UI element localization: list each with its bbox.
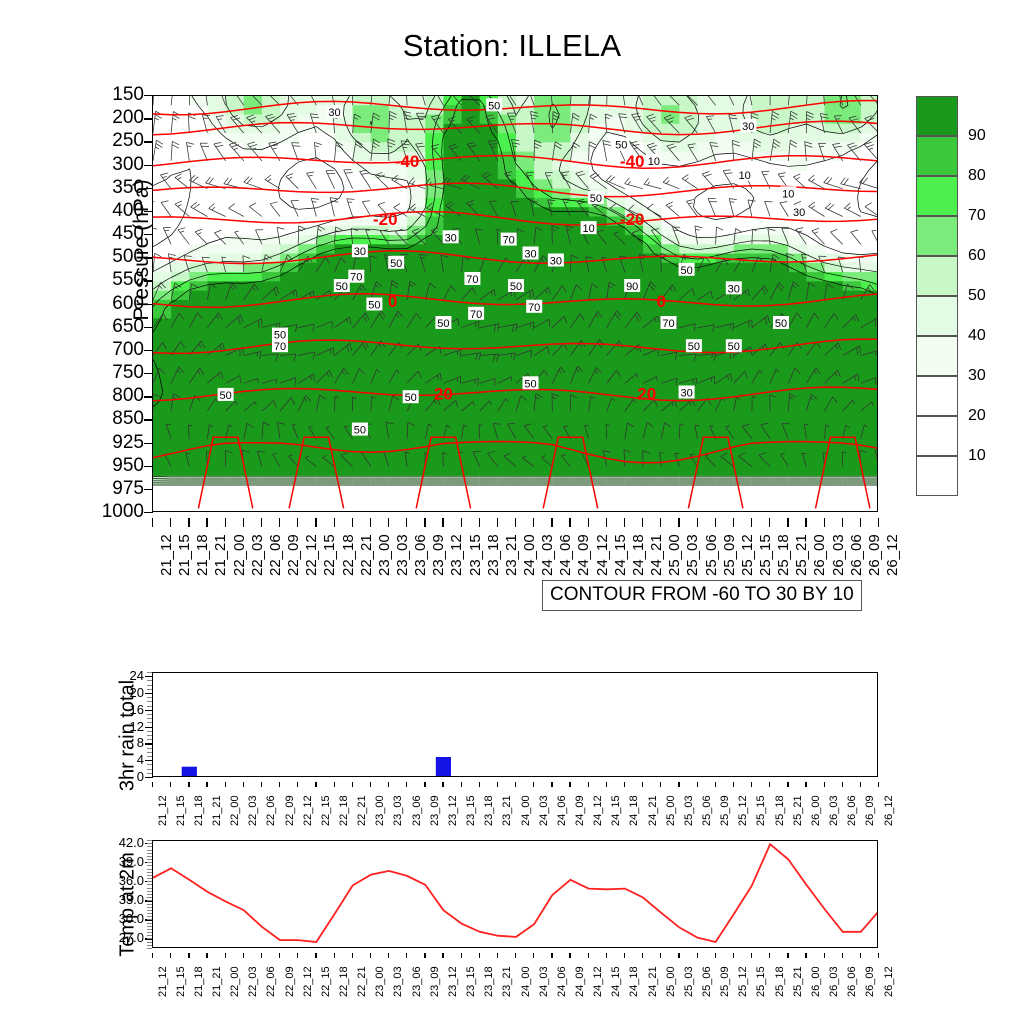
temp-time-tick-mark <box>243 953 244 958</box>
temp-time-tick-mark <box>225 953 226 958</box>
rain-time-tick-label: 26_03 <box>828 795 840 826</box>
rain-time-tick-label: 24_03 <box>538 795 550 826</box>
colorbar-tick-label: 80 <box>968 168 986 184</box>
time-tick-label: 23_03 <box>394 534 411 576</box>
svg-text:50: 50 <box>368 300 380 312</box>
time-tick-label: 24_15 <box>612 534 629 576</box>
time-tick-mark <box>769 518 770 527</box>
rain-time-tick-label: 23_21 <box>501 795 513 826</box>
temp-time-tick-label: 25_18 <box>774 966 786 997</box>
time-tick-label: 23_12 <box>448 534 465 576</box>
temp-time-tick-label: 25_06 <box>701 966 713 997</box>
svg-text:30: 30 <box>728 283 740 295</box>
pressure-tick-label: 975 <box>60 479 144 498</box>
colorbar-tick-label: 20 <box>968 408 986 424</box>
rain-time-tick-mark <box>660 782 661 787</box>
temp-time-tick-label: 24_12 <box>592 966 604 997</box>
time-tick-mark <box>678 518 679 527</box>
rain-time-tick-mark <box>769 782 770 787</box>
time-tick-mark <box>225 518 226 527</box>
rain-tick-label: 4 <box>100 753 144 766</box>
time-tick-label: 25_00 <box>666 534 683 576</box>
rain-time-tick-mark <box>678 782 679 787</box>
temp-time-tick-mark <box>206 953 207 958</box>
temp-time-tick-mark <box>442 953 443 958</box>
time-tick-label: 26_12 <box>884 534 901 576</box>
sounding-cross-section-panel: -40-40-20-200020203050507050705030707050… <box>152 95 878 512</box>
time-tick-mark <box>697 518 698 527</box>
temp-time-tick-mark <box>152 953 153 958</box>
temp-minor-tick <box>147 948 152 949</box>
temp-time-tick-mark <box>588 953 589 958</box>
time-tick-label: 24_09 <box>575 534 592 576</box>
svg-text:70: 70 <box>466 274 478 286</box>
rain-time-tick-mark <box>297 782 298 787</box>
sounding-plot-frame: -40-40-20-200020203050507050705030707050… <box>152 95 878 512</box>
rain-tick-label: 12 <box>100 720 144 733</box>
time-tick-label: 21_18 <box>194 534 211 576</box>
time-tick-label: 24_18 <box>630 534 647 576</box>
colorbar-swatch <box>916 136 958 176</box>
temp-tick-label: 33.0 <box>86 893 144 906</box>
pressure-tick-label: 150 <box>60 85 144 104</box>
pressure-tick-label: 1000 <box>60 502 144 521</box>
pressure-tick-label: 550 <box>60 270 144 289</box>
rain-time-tick-mark <box>751 782 752 787</box>
rain-time-tick-label: 21_18 <box>193 795 205 826</box>
temp-time-tick-label: 25_03 <box>683 966 695 997</box>
temp-time-tick-label: 25_15 <box>755 966 767 997</box>
rain-time-tick-label: 25_18 <box>774 795 786 826</box>
temp-time-tick-mark <box>606 953 607 958</box>
temp-time-tick-mark <box>715 953 716 958</box>
colorbar-swatch <box>916 456 958 496</box>
time-tick-mark <box>878 518 879 527</box>
contour-legend-box: CONTOUR FROM -60 TO 30 BY 10 <box>542 580 862 611</box>
rain-time-tick-label: 21_21 <box>211 795 223 826</box>
svg-text:70: 70 <box>470 309 482 321</box>
temp-time-tick-label: 23_06 <box>411 966 423 997</box>
pressure-tick-label: 300 <box>60 155 144 174</box>
temp-time-tick-mark <box>297 953 298 958</box>
time-tick-label: 25_18 <box>775 534 792 576</box>
time-tick-label: 24_06 <box>557 534 574 576</box>
temp-tick-label: 36.0 <box>86 874 144 887</box>
svg-text:90: 90 <box>626 281 638 293</box>
rain-time-tick-mark <box>479 782 480 787</box>
temp-line <box>153 841 878 948</box>
colorbar-swatch <box>916 176 958 216</box>
temp-time-tick-label: 21_21 <box>211 966 223 997</box>
rain-time-tick-mark <box>206 782 207 787</box>
svg-text:30: 30 <box>328 107 340 119</box>
time-tick-label: 24_21 <box>648 534 665 576</box>
rain-time-tick-mark <box>334 782 335 787</box>
svg-text:30: 30 <box>742 121 754 133</box>
pressure-tick-label: 750 <box>60 363 144 382</box>
time-tick-label: 22_15 <box>321 534 338 576</box>
colorbar-swatch <box>916 256 958 296</box>
temp-time-tick-mark <box>842 953 843 958</box>
temp-plot-frame <box>152 840 878 948</box>
time-tick-label: 25_03 <box>684 534 701 576</box>
temp-time-tick-mark <box>188 953 189 958</box>
rain-time-tick-label: 25_12 <box>737 795 749 826</box>
time-tick-mark <box>315 518 316 527</box>
time-tick-label: 22_00 <box>231 534 248 576</box>
temp-panel <box>152 840 878 948</box>
temp-time-tick-mark <box>261 953 262 958</box>
temp-time-tick-label: 24_00 <box>520 966 532 997</box>
svg-text:0: 0 <box>656 292 665 311</box>
temp-time-tick-label: 25_09 <box>719 966 731 997</box>
temp-time-tick-label: 26_12 <box>883 966 895 997</box>
time-tick-mark <box>642 518 643 527</box>
time-tick-mark <box>787 518 788 527</box>
rain-bar <box>254 776 269 777</box>
temp-time-tick-label: 25_21 <box>792 966 804 997</box>
temp-time-tick-label: 21_12 <box>157 966 169 997</box>
pressure-tick-label: 800 <box>60 386 144 405</box>
rain-time-axis: 21_1221_1521_1821_2122_0022_0322_0622_09… <box>152 782 878 828</box>
rain-time-tick-mark <box>733 782 734 787</box>
time-tick-label: 24_00 <box>521 534 538 576</box>
temp-time-tick-label: 24_03 <box>538 966 550 997</box>
temp-time-tick-mark <box>769 953 770 958</box>
temp-time-tick-mark <box>624 953 625 958</box>
rain-time-tick-label: 22_00 <box>229 795 241 826</box>
svg-text:70: 70 <box>503 235 515 247</box>
temp-time-tick-mark <box>279 953 280 958</box>
time-tick-mark <box>370 518 371 527</box>
pressure-tick-label: 250 <box>60 131 144 150</box>
time-tick-label: 23_21 <box>503 534 520 576</box>
rain-time-tick-mark <box>225 782 226 787</box>
colorbar-swatch <box>916 96 958 136</box>
temp-time-tick-mark <box>733 953 734 958</box>
colorbar-swatch <box>916 336 958 376</box>
rain-time-tick-label: 24_15 <box>610 795 622 826</box>
temp-time-tick-mark <box>824 953 825 958</box>
svg-text:70: 70 <box>350 272 362 284</box>
time-tick-mark <box>424 518 425 527</box>
time-tick-label: 21_15 <box>176 534 193 576</box>
colorbar-tick-label: 90 <box>968 128 986 144</box>
rain-bar <box>182 767 197 777</box>
temp-time-tick-mark <box>406 953 407 958</box>
rain-time-tick-mark <box>697 782 698 787</box>
pressure-tick-label: 700 <box>60 340 144 359</box>
pressure-tick-label: 950 <box>60 456 144 475</box>
rain-time-tick-mark <box>497 782 498 787</box>
time-tick-mark <box>805 518 806 527</box>
time-tick-label: 25_15 <box>757 534 774 576</box>
temp-time-tick-mark <box>678 953 679 958</box>
temp-time-tick-label: 26_06 <box>846 966 858 997</box>
svg-text:50: 50 <box>688 341 700 353</box>
svg-text:50: 50 <box>615 140 627 152</box>
pressure-tick-label: 500 <box>60 247 144 266</box>
rain-time-tick-mark <box>370 782 371 787</box>
time-tick-label: 26_09 <box>866 534 883 576</box>
rain-tick-mark <box>145 777 153 778</box>
svg-text:30: 30 <box>354 246 366 258</box>
time-tick-mark <box>497 518 498 527</box>
temp-time-tick-label: 22_18 <box>338 966 350 997</box>
rain-time-tick-label: 25_15 <box>755 795 767 826</box>
rain-tick-label: 24 <box>100 669 144 682</box>
temp-time-tick-mark <box>479 953 480 958</box>
colorbar-swatch <box>916 376 958 416</box>
rain-time-tick-mark <box>315 782 316 787</box>
temp-time-tick-label: 23_15 <box>465 966 477 997</box>
temp-time-tick-label: 25_00 <box>665 966 677 997</box>
rain-time-tick-mark <box>642 782 643 787</box>
rain-tick-label: 16 <box>100 703 144 716</box>
pressure-tick-label: 600 <box>60 294 144 313</box>
temp-time-tick-label: 26_03 <box>828 966 840 997</box>
rain-time-tick-mark <box>787 782 788 787</box>
colorbar-tick-label: 40 <box>968 328 986 344</box>
temp-time-tick-label: 22_09 <box>284 966 296 997</box>
time-tick-mark <box>715 518 716 527</box>
svg-text:70: 70 <box>528 302 540 314</box>
relative-humidity-colorbar: 102030405060708090 <box>916 96 958 496</box>
rain-time-tick-mark <box>515 782 516 787</box>
pressure-tick-label: 850 <box>60 409 144 428</box>
rain-time-tick-label: 22_03 <box>247 795 259 826</box>
pressure-tick-mark <box>144 512 153 513</box>
rain-time-tick-label: 21_15 <box>175 795 187 826</box>
temp-time-tick-label: 24_06 <box>556 966 568 997</box>
time-tick-mark <box>751 518 752 527</box>
svg-text:50: 50 <box>775 318 787 330</box>
time-tick-mark <box>842 518 843 527</box>
time-tick-mark <box>461 518 462 527</box>
rain-bar <box>436 757 451 777</box>
temp-time-tick-mark <box>315 953 316 958</box>
time-tick-mark <box>352 518 353 527</box>
temp-time-tick-mark <box>697 953 698 958</box>
colorbar-swatch <box>916 416 958 456</box>
rain-time-tick-label: 23_09 <box>429 795 441 826</box>
temp-time-tick-label: 24_18 <box>628 966 640 997</box>
svg-text:-20: -20 <box>620 210 645 229</box>
colorbar-swatch <box>916 296 958 336</box>
temp-time-tick-label: 23_21 <box>501 966 513 997</box>
temp-time-tick-mark <box>860 953 861 958</box>
rain-time-tick-mark <box>588 782 589 787</box>
svg-text:50: 50 <box>405 392 417 404</box>
rain-time-tick-label: 25_06 <box>701 795 713 826</box>
time-tick-mark <box>733 518 734 527</box>
time-tick-mark <box>660 518 661 527</box>
temp-time-tick-mark <box>334 953 335 958</box>
temp-time-tick-mark <box>170 953 171 958</box>
svg-text:50: 50 <box>488 100 500 112</box>
svg-text:50: 50 <box>680 265 692 277</box>
rain-time-tick-mark <box>461 782 462 787</box>
rain-time-tick-mark <box>569 782 570 787</box>
temp-time-tick-mark <box>370 953 371 958</box>
pressure-tick-label: 400 <box>60 201 144 220</box>
rain-time-tick-mark <box>624 782 625 787</box>
temp-time-tick-label: 22_12 <box>302 966 314 997</box>
temp-tick-label: 30.0 <box>86 912 144 925</box>
temp-time-tick-mark <box>878 953 879 958</box>
time-tick-mark <box>406 518 407 527</box>
svg-text:10: 10 <box>582 223 594 235</box>
time-tick-label: 21_21 <box>212 534 229 576</box>
temp-time-axis: 21_1221_1521_1821_2122_0022_0322_0622_09… <box>152 953 878 999</box>
svg-text:50: 50 <box>728 341 740 353</box>
rain-tick-label: 8 <box>100 736 144 749</box>
temp-time-tick-label: 23_09 <box>429 966 441 997</box>
temp-time-tick-mark <box>533 953 534 958</box>
temp-time-tick-label: 22_03 <box>247 966 259 997</box>
temp-time-tick-mark <box>551 953 552 958</box>
svg-text:10: 10 <box>739 170 751 182</box>
temp-time-tick-label: 23_00 <box>374 966 386 997</box>
time-tick-label: 25_21 <box>793 534 810 576</box>
rain-time-tick-mark <box>388 782 389 787</box>
time-tick-label: 23_00 <box>376 534 393 576</box>
time-tick-label: 26_06 <box>848 534 865 576</box>
time-tick-label: 23_15 <box>467 534 484 576</box>
svg-text:70: 70 <box>274 341 286 353</box>
time-tick-mark <box>261 518 262 527</box>
sounding-time-axis: 21_1221_1521_1821_2122_0022_0322_0622_09… <box>152 518 878 580</box>
rain-time-tick-mark <box>352 782 353 787</box>
time-tick-mark <box>479 518 480 527</box>
svg-text:30: 30 <box>793 207 805 219</box>
rain-time-tick-label: 24_06 <box>556 795 568 826</box>
temp-time-tick-label: 26_00 <box>810 966 822 997</box>
time-tick-mark <box>624 518 625 527</box>
time-tick-label: 25_06 <box>703 534 720 576</box>
rain-time-tick-label: 24_00 <box>520 795 532 826</box>
svg-text:70: 70 <box>662 318 674 330</box>
rain-time-tick-mark <box>424 782 425 787</box>
temp-time-tick-label: 23_18 <box>483 966 495 997</box>
rain-time-tick-label: 25_00 <box>665 795 677 826</box>
time-tick-mark <box>515 518 516 527</box>
temp-tick-label: 27.0 <box>86 931 144 944</box>
temp-time-tick-mark <box>787 953 788 958</box>
rain-time-tick-label: 25_21 <box>792 795 804 826</box>
time-tick-label: 25_12 <box>739 534 756 576</box>
rain-time-tick-label: 23_00 <box>374 795 386 826</box>
svg-text:-40: -40 <box>395 152 420 171</box>
svg-text:50: 50 <box>437 318 449 330</box>
colorbar-tick-label: 30 <box>968 368 986 384</box>
pressure-tick-label: 200 <box>60 108 144 127</box>
rain-time-tick-label: 26_12 <box>883 795 895 826</box>
rain-plot-frame <box>152 672 878 777</box>
rain-time-tick-label: 22_21 <box>356 795 368 826</box>
time-tick-label: 25_09 <box>721 534 738 576</box>
colorbar-tick-label: 60 <box>968 248 986 264</box>
temp-time-tick-label: 25_12 <box>737 966 749 997</box>
rain-time-tick-mark <box>406 782 407 787</box>
time-tick-label: 22_21 <box>358 534 375 576</box>
rain-time-tick-label: 24_12 <box>592 795 604 826</box>
time-tick-label: 24_03 <box>539 534 556 576</box>
rain-bars <box>153 673 878 777</box>
temp-time-tick-mark <box>515 953 516 958</box>
page-title: Station: ILLELA <box>0 28 1024 64</box>
rain-time-tick-label: 24_21 <box>647 795 659 826</box>
temp-time-tick-mark <box>497 953 498 958</box>
temp-time-tick-mark <box>569 953 570 958</box>
rain-time-tick-mark <box>551 782 552 787</box>
time-tick-label: 21_12 <box>158 534 175 576</box>
svg-text:0: 0 <box>388 292 397 311</box>
rain-time-tick-label: 26_09 <box>864 795 876 826</box>
rain-bar <box>454 776 469 777</box>
temp-time-tick-label: 26_09 <box>864 966 876 997</box>
rain-time-tick-label: 25_09 <box>719 795 731 826</box>
temp-time-tick-label: 24_21 <box>647 966 659 997</box>
temp-time-tick-mark <box>461 953 462 958</box>
temp-time-tick-label: 22_00 <box>229 966 241 997</box>
temp-time-tick-label: 21_15 <box>175 966 187 997</box>
svg-text:20: 20 <box>637 385 656 404</box>
rain-time-tick-mark <box>170 782 171 787</box>
svg-text:50: 50 <box>390 258 402 270</box>
time-tick-mark <box>243 518 244 527</box>
colorbar-tick-label: 70 <box>968 208 986 224</box>
svg-text:50: 50 <box>219 390 231 402</box>
time-tick-label: 22_09 <box>285 534 302 576</box>
rain-time-tick-label: 22_06 <box>265 795 277 826</box>
rain-time-tick-label: 22_09 <box>284 795 296 826</box>
temp-time-tick-mark <box>352 953 353 958</box>
svg-text:30: 30 <box>680 388 692 400</box>
rain-time-tick-label: 24_09 <box>574 795 586 826</box>
time-tick-mark <box>279 518 280 527</box>
svg-text:50: 50 <box>336 281 348 293</box>
time-tick-label: 22_18 <box>340 534 357 576</box>
colorbar-swatch <box>916 216 958 256</box>
rain-time-tick-mark <box>261 782 262 787</box>
temp-time-tick-mark <box>424 953 425 958</box>
temp-tick-label: 39.0 <box>86 855 144 868</box>
time-tick-mark <box>442 518 443 527</box>
colorbar-tick-label: 10 <box>968 448 986 464</box>
time-tick-mark <box>334 518 335 527</box>
rain-time-tick-mark <box>533 782 534 787</box>
rain-panel <box>152 672 878 777</box>
rain-time-tick-mark <box>824 782 825 787</box>
time-tick-label: 23_06 <box>412 534 429 576</box>
time-tick-label: 26_03 <box>830 534 847 576</box>
rain-time-tick-mark <box>243 782 244 787</box>
temp-time-tick-mark <box>388 953 389 958</box>
temp-time-tick-label: 22_21 <box>356 966 368 997</box>
time-tick-label: 24_12 <box>594 534 611 576</box>
temp-time-tick-label: 24_09 <box>574 966 586 997</box>
svg-text:50: 50 <box>274 330 286 342</box>
rain-time-tick-label: 23_18 <box>483 795 495 826</box>
rain-time-tick-mark <box>715 782 716 787</box>
colorbar-tick-label: 50 <box>968 288 986 304</box>
temp-time-tick-mark <box>660 953 661 958</box>
rain-time-tick-mark <box>860 782 861 787</box>
temp-time-tick-label: 24_15 <box>610 966 622 997</box>
rain-time-tick-label: 21_12 <box>157 795 169 826</box>
temp-time-tick-mark <box>805 953 806 958</box>
